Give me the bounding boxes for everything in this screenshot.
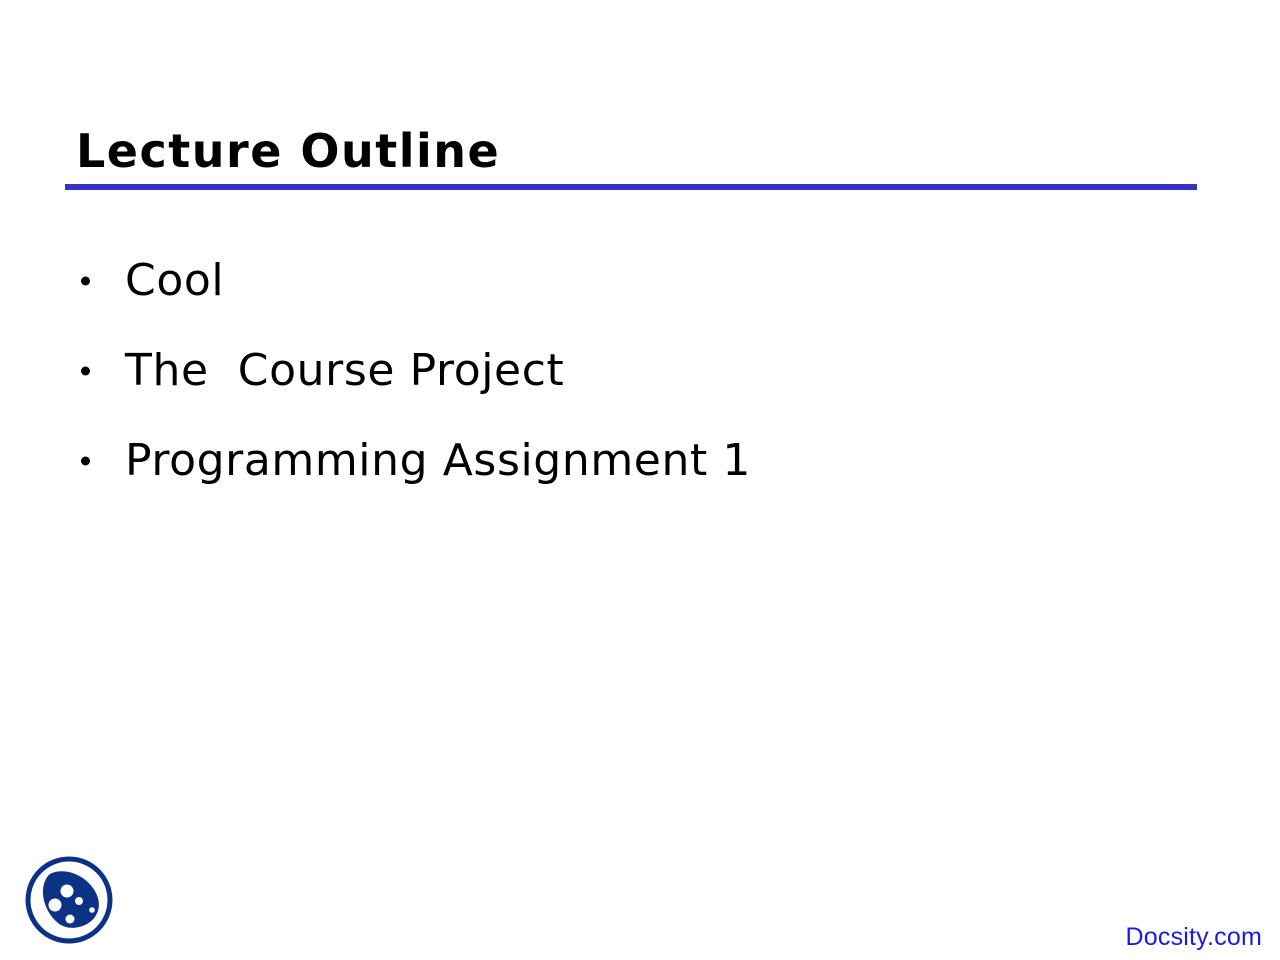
list-item-label: Programming Assignment 1: [125, 437, 751, 485]
docsity-wordmark: Docsity.com: [1126, 923, 1262, 952]
list-item: Programming Assignment 1: [70, 416, 1200, 506]
list-item-label: Cool: [125, 257, 224, 305]
presentation-slide: Lecture Outline Cool The Course Project …: [0, 0, 1280, 960]
list-item-label: The Course Project: [125, 347, 564, 395]
page-title: Lecture Outline: [76, 127, 500, 175]
bullet-dot-icon: [81, 457, 90, 466]
bullet-dot-icon: [81, 277, 90, 286]
outline-bullet-list: Cool The Course Project Programming Assi…: [70, 236, 1200, 506]
list-item: Cool: [70, 236, 1200, 326]
title-divider-rule: [65, 184, 1197, 190]
list-item: The Course Project: [70, 326, 1200, 416]
bullet-dot-icon: [81, 367, 90, 376]
docsity-cookie-logo-icon: [22, 853, 116, 947]
